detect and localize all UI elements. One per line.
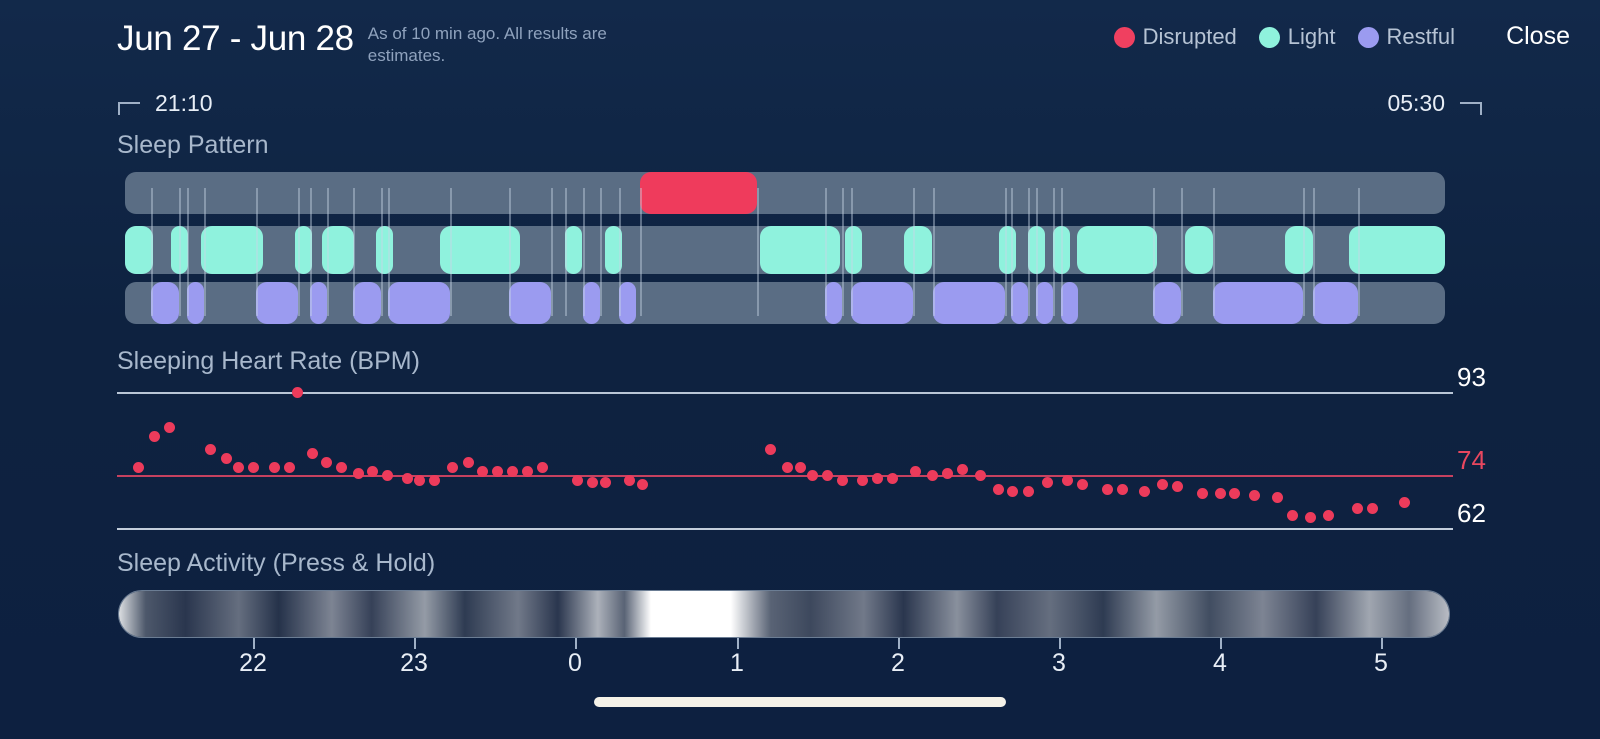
hr-data-point (837, 475, 848, 486)
hr-data-point (765, 444, 776, 455)
axis-tick-label: 22 (239, 649, 267, 678)
sleep-start-time: 21:10 (155, 90, 213, 117)
hr-data-point (133, 462, 144, 473)
sleep-pattern-chart[interactable] (125, 172, 1445, 324)
sleep-report-screen: Jun 27 - Jun 28 As of 10 min ago. All re… (0, 0, 1600, 739)
hr-data-point (205, 444, 216, 455)
hr-data-point (572, 475, 583, 486)
header: Jun 27 - Jun 28 As of 10 min ago. All re… (0, 0, 1600, 78)
sleep-segment-restful[interactable] (1011, 282, 1028, 324)
sleep-activity-strip[interactable] (118, 590, 1450, 638)
hr-data-point (957, 464, 968, 475)
hr-data-point (447, 462, 458, 473)
axis-tick (253, 638, 255, 649)
stage-connector-line (933, 188, 935, 316)
hr-data-point (248, 462, 259, 473)
stage-connector-line (551, 188, 553, 316)
hr-data-point (463, 457, 474, 468)
hr-data-point (1157, 479, 1168, 490)
activity-gradient (119, 591, 1449, 637)
hr-data-point (1139, 486, 1150, 497)
legend-dot-disrupted-icon (1114, 27, 1135, 48)
legend-item-restful[interactable]: Restful (1358, 24, 1455, 50)
stage-connector-line (187, 188, 189, 316)
sleep-segment-disrupted[interactable] (640, 172, 757, 214)
legend-dot-light-icon (1259, 27, 1280, 48)
hr-data-point (321, 457, 332, 468)
stage-connector-line (640, 188, 642, 316)
stage-connector-line (851, 188, 853, 316)
stage-connector-line (179, 188, 181, 316)
hr-data-point (336, 462, 347, 473)
stage-connector-line (1061, 188, 1063, 316)
stage-connector-line (1358, 188, 1360, 316)
sleep-segment-light[interactable] (999, 226, 1016, 274)
sleep-segment-restful[interactable] (151, 282, 179, 324)
legend: Disrupted Light Restful (1114, 24, 1455, 50)
hr-data-point (1042, 477, 1053, 488)
sleep-segment-restful[interactable] (509, 282, 551, 324)
hr-data-point (1117, 484, 1128, 495)
legend-label-disrupted: Disrupted (1143, 24, 1237, 50)
hr-data-point (1305, 512, 1316, 523)
stage-connector-line (1181, 188, 1183, 316)
home-indicator[interactable] (594, 697, 1006, 707)
hr-data-point (149, 431, 160, 442)
stage-connector-line (381, 188, 383, 316)
stage-connector-line (1213, 188, 1215, 316)
axis-tick (414, 638, 416, 649)
axis-tick-label: 23 (400, 649, 428, 678)
hr-data-point (975, 470, 986, 481)
time-axis: 2223012345 (0, 638, 1600, 686)
sleep-segment-restful[interactable] (619, 282, 636, 324)
hr-reference-line-avg (117, 475, 1453, 477)
sleep-segment-restful[interactable] (353, 282, 381, 324)
sleep-segment-light[interactable] (440, 226, 520, 274)
stage-connector-line (256, 188, 258, 316)
stage-connector-line (151, 188, 153, 316)
sleep-end-time: 05:30 (1387, 90, 1445, 117)
hr-data-point (1007, 486, 1018, 497)
stage-connector-line (583, 188, 585, 316)
sleep-segment-restful[interactable] (1313, 282, 1358, 324)
stage-connector-line (619, 188, 621, 316)
hr-data-point (1102, 484, 1113, 495)
heart-rate-heading: Sleeping Heart Rate (BPM) (117, 347, 420, 376)
hr-data-point (307, 448, 318, 459)
hr-data-point (822, 470, 833, 481)
stage-connector-line (600, 188, 602, 316)
hr-data-point (795, 462, 806, 473)
axis-tick (898, 638, 900, 649)
sleep-segment-restful[interactable] (310, 282, 327, 324)
hr-data-point (1287, 510, 1298, 521)
hr-data-point (284, 462, 295, 473)
sleep-activity-heading: Sleep Activity (Press & Hold) (117, 549, 435, 578)
sleep-segment-light[interactable] (1285, 226, 1313, 274)
sleep-segment-restful[interactable] (1061, 282, 1078, 324)
hr-data-point (807, 470, 818, 481)
legend-label-light: Light (1288, 24, 1336, 50)
hr-data-point (910, 466, 921, 477)
sleep-segment-restful[interactable] (933, 282, 1005, 324)
axis-tick (1220, 638, 1222, 649)
axis-tick-label: 2 (891, 649, 905, 678)
title-group: Jun 27 - Jun 28 As of 10 min ago. All re… (117, 14, 633, 67)
stage-connector-line (825, 188, 827, 316)
hr-data-point (382, 470, 393, 481)
hr-data-point (927, 470, 938, 481)
hr-data-point (1077, 479, 1088, 490)
sleep-segment-light[interactable] (376, 226, 393, 274)
hr-data-point (402, 473, 413, 484)
track-disrupted[interactable] (125, 172, 1445, 214)
axis-tick (1381, 638, 1383, 649)
sleep-pattern-heading: Sleep Pattern (117, 131, 269, 160)
hr-data-point (637, 479, 648, 490)
legend-item-disrupted[interactable]: Disrupted (1114, 24, 1237, 50)
axis-tick (737, 638, 739, 649)
sleep-segment-restful[interactable] (388, 282, 450, 324)
stage-connector-line (757, 188, 759, 316)
hr-data-point (1367, 503, 1378, 514)
stage-connector-line (913, 188, 915, 316)
hr-value-label-max: 93 (1457, 362, 1486, 393)
sleep-segment-light[interactable] (201, 226, 263, 274)
hr-data-point (353, 468, 364, 479)
sleep-segment-restful[interactable] (825, 282, 842, 324)
hr-data-point (269, 462, 280, 473)
hr-data-point (782, 462, 793, 473)
stage-connector-line (298, 188, 300, 316)
stage-connector-line (388, 188, 390, 316)
legend-item-light[interactable]: Light (1259, 24, 1336, 50)
header-subtitle: As of 10 min ago. All results are estima… (368, 23, 633, 67)
legend-label-restful: Restful (1387, 24, 1455, 50)
stage-connector-line (1011, 188, 1013, 316)
axis-tick-label: 3 (1052, 649, 1066, 678)
sleep-segment-restful[interactable] (851, 282, 913, 324)
hr-data-point (887, 473, 898, 484)
track-restful[interactable] (125, 282, 1445, 324)
hr-value-label-min: 62 (1457, 498, 1486, 529)
close-button[interactable]: Close (1506, 22, 1570, 51)
stage-connector-line (1036, 188, 1038, 316)
stage-connector-line (565, 188, 567, 316)
hr-data-point (942, 468, 953, 479)
axis-tick-label: 1 (730, 649, 744, 678)
hr-data-point (414, 475, 425, 486)
hr-data-point (1272, 492, 1283, 503)
hr-data-point (872, 473, 883, 484)
axis-tick-label: 0 (568, 649, 582, 678)
sleep-segment-light[interactable] (1185, 226, 1213, 274)
hr-data-point (1023, 486, 1034, 497)
stage-connector-line (450, 188, 452, 316)
hr-data-point (537, 462, 548, 473)
axis-tick-label: 5 (1374, 649, 1388, 678)
hr-data-point (477, 466, 488, 477)
hr-data-point (292, 387, 303, 398)
hr-data-point (507, 466, 518, 477)
hr-data-point (1172, 481, 1183, 492)
axis-tick-label: 4 (1213, 649, 1227, 678)
stage-connector-line (1005, 188, 1007, 316)
stage-connector-line (1053, 188, 1055, 316)
sleep-segment-light[interactable] (845, 226, 862, 274)
stage-connector-line (509, 188, 511, 316)
hr-data-point (1215, 488, 1226, 499)
hr-data-point (1352, 503, 1363, 514)
stage-connector-line (353, 188, 355, 316)
hr-data-point (1323, 510, 1334, 521)
stage-connector-line (1313, 188, 1315, 316)
hr-data-point (857, 475, 868, 486)
stage-connector-line (1303, 188, 1305, 316)
hr-data-point (1229, 488, 1240, 499)
sleep-segment-light[interactable] (565, 226, 582, 274)
sleep-segment-restful[interactable] (1213, 282, 1303, 324)
stage-connector-line (1028, 188, 1030, 316)
hr-data-point (221, 453, 232, 464)
sleep-segment-light[interactable] (760, 226, 840, 274)
range-start-bracket-icon (118, 102, 140, 115)
hr-reference-line-max (117, 392, 1453, 394)
hr-data-point (600, 477, 611, 488)
sleep-segment-restful[interactable] (583, 282, 600, 324)
range-end-bracket-icon (1460, 102, 1482, 115)
hr-data-point (233, 462, 244, 473)
sleep-segment-light[interactable] (904, 226, 932, 274)
stage-connector-line (204, 188, 206, 316)
hr-data-point (164, 422, 175, 433)
hr-data-point (624, 475, 635, 486)
sleep-segment-light[interactable] (1077, 226, 1157, 274)
sleep-segment-light[interactable] (125, 226, 153, 274)
axis-tick (1059, 638, 1061, 649)
sleep-segment-restful[interactable] (256, 282, 298, 324)
hr-data-point (587, 477, 598, 488)
stage-connector-line (842, 188, 844, 316)
track-light[interactable] (125, 226, 1445, 274)
stage-connector-line (1153, 188, 1155, 316)
legend-dot-restful-icon (1358, 27, 1379, 48)
sleep-segment-restful[interactable] (1153, 282, 1181, 324)
hr-data-point (522, 466, 533, 477)
page-title: Jun 27 - Jun 28 (117, 14, 354, 64)
hr-data-point (993, 484, 1004, 495)
hr-reference-line-min (117, 528, 1453, 530)
hr-data-point (1249, 490, 1260, 501)
hr-data-point (429, 475, 440, 486)
sleep-segment-restful[interactable] (187, 282, 204, 324)
hr-data-point (1197, 488, 1208, 499)
sleep-segment-restful[interactable] (1036, 282, 1053, 324)
heart-rate-chart[interactable]: 937462 (117, 385, 1453, 535)
hr-data-point (1399, 497, 1410, 508)
hr-data-point (492, 466, 503, 477)
hr-value-label-avg: 74 (1457, 445, 1486, 476)
stage-connector-line (310, 188, 312, 316)
hr-data-point (367, 466, 378, 477)
time-range-row: 21:10 05:30 (0, 90, 1600, 124)
hr-data-point (1062, 475, 1073, 486)
stage-connector-line (327, 188, 329, 316)
axis-tick (575, 638, 577, 649)
sleep-segment-light[interactable] (1349, 226, 1445, 274)
